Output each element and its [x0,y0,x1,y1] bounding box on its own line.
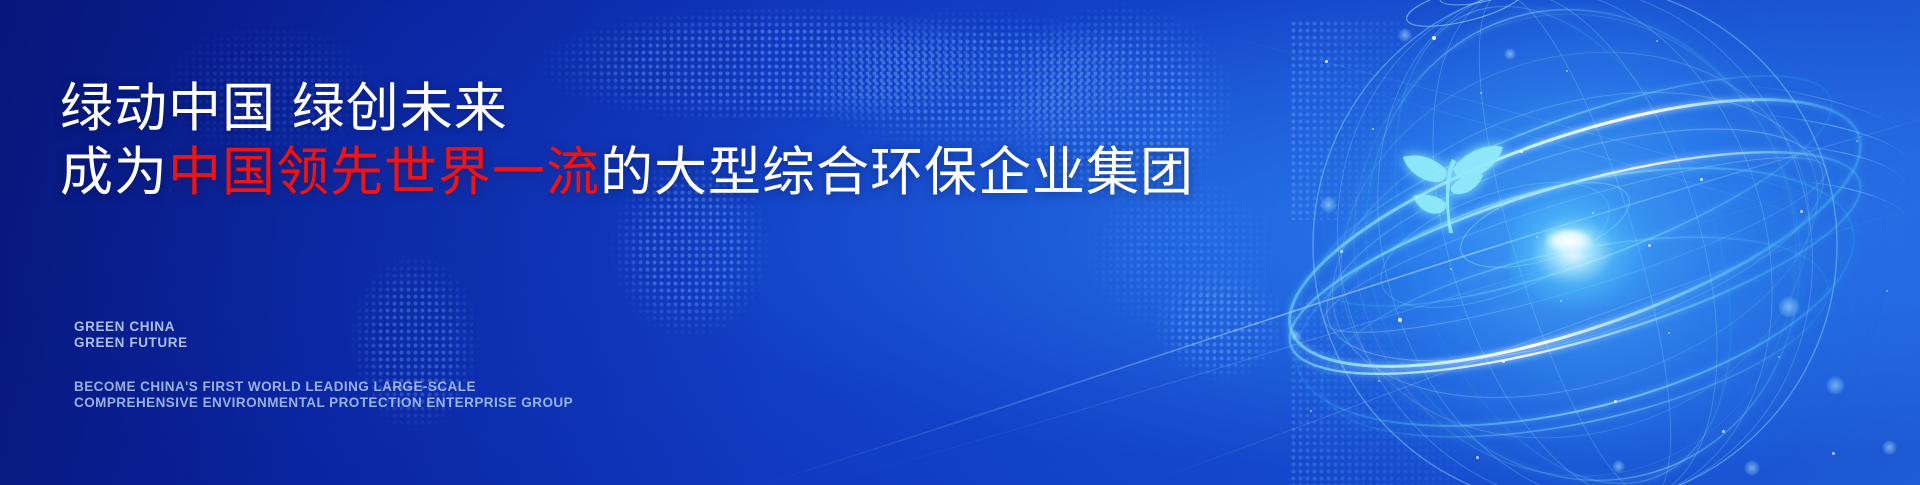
tagline-english-line-1: BECOME CHINA'S FIRST WORLD LEADING LARGE… [74,379,573,395]
headline-block: 绿动中国 绿创未来 成为中国领先世界一流的大型综合环保企业集团 [60,78,1194,204]
headline-line-2-prefix: 成为 [60,143,168,202]
light-burst-glow [1510,180,1660,310]
headline-line-2-suffix: 的大型综合环保企业集团 [600,143,1194,202]
subtitle-english-line-2: GREEN FUTURE [74,335,188,351]
globe-graphic [1245,0,1905,485]
headline-line-1: 绿动中国 绿创未来 [60,78,1194,140]
globe-glow [1275,0,1875,485]
tagline-english-line-2: COMPREHENSIVE ENVIRONMENTAL PROTECTION E… [74,395,573,411]
globe-wireframe [1245,0,1905,485]
tagline-english: BECOME CHINA'S FIRST WORLD LEADING LARGE… [74,379,573,411]
headline-line-2-highlight: 中国领先世界一流 [168,143,600,202]
sprout-leaf-icon [1391,125,1511,240]
headline-line-2: 成为中国领先世界一流的大型综合环保企业集团 [60,142,1194,204]
subtitle-english-line-1: GREEN CHINA [74,319,188,335]
hero-banner: 绿动中国 绿创未来 成为中国领先世界一流的大型综合环保企业集团 GREEN CH… [0,0,1920,485]
light-burst-core [1545,228,1593,254]
banner-copy: 绿动中国 绿创未来 成为中国领先世界一流的大型综合环保企业集团 GREEN CH… [0,0,1100,485]
subtitle-english: GREEN CHINA GREEN FUTURE [74,319,188,351]
